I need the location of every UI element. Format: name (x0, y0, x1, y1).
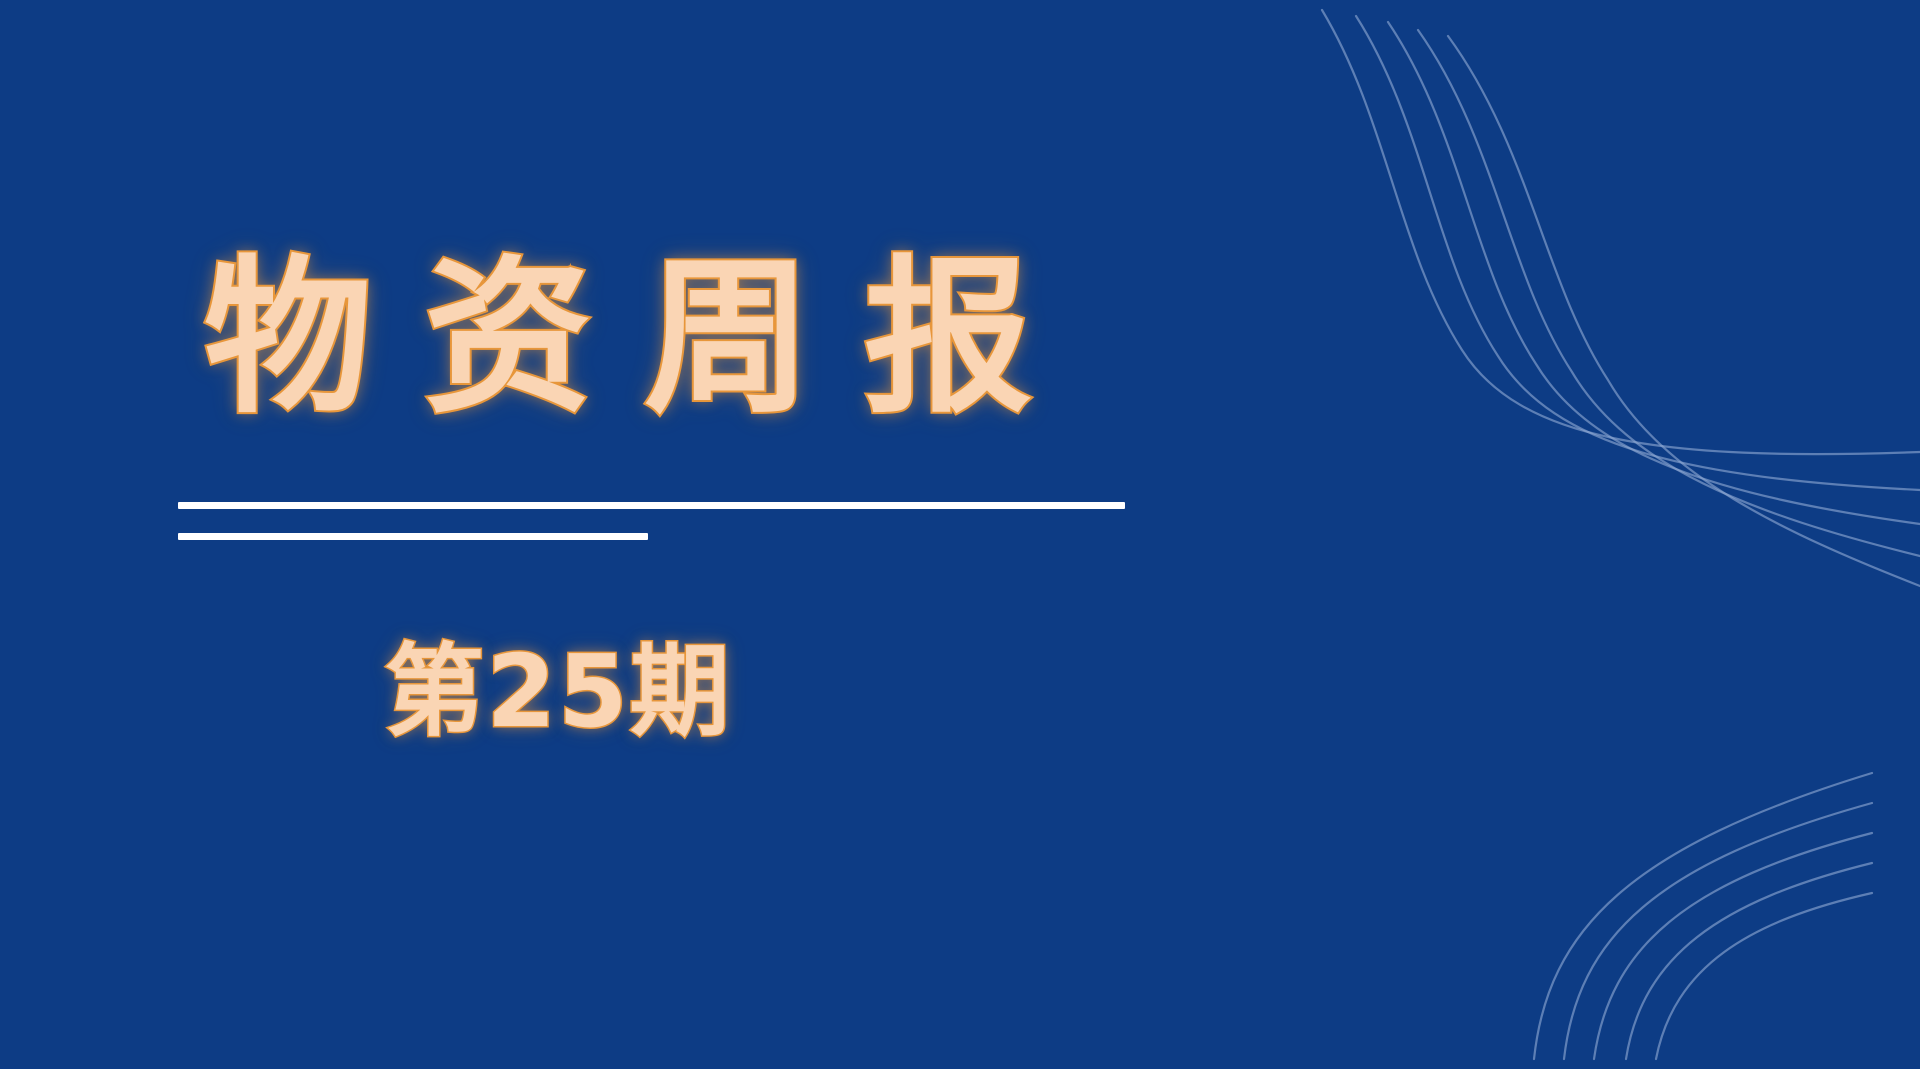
arc-line-2 (1564, 803, 1872, 1059)
wave-line-4 (1418, 30, 1920, 556)
title-underline-short (178, 533, 648, 540)
arc-lines-bottom-right-svg (1520, 729, 1920, 1069)
title-block: 物资周报 (178, 248, 1278, 429)
subtitle-issue: 第25期 (178, 636, 938, 748)
wave-line-1 (1322, 10, 1920, 454)
arc-lines-bottom-right-icon (1520, 729, 1920, 1069)
wave-line-5 (1448, 36, 1920, 586)
arc-line-4 (1626, 863, 1872, 1059)
wave-line-2 (1356, 16, 1920, 490)
arc-line-3 (1594, 833, 1872, 1059)
wave-line-3 (1388, 22, 1920, 524)
wave-lines-top-right-svg (1280, 0, 1920, 600)
wave-lines-top-right-icon (1280, 0, 1920, 600)
title-underline-long (178, 502, 1125, 509)
title-slide: 物资周报 第25期 (0, 0, 1920, 1069)
page-title: 物资周报 (178, 248, 1278, 429)
arc-line-5 (1656, 893, 1872, 1059)
arc-line-1 (1534, 773, 1872, 1059)
